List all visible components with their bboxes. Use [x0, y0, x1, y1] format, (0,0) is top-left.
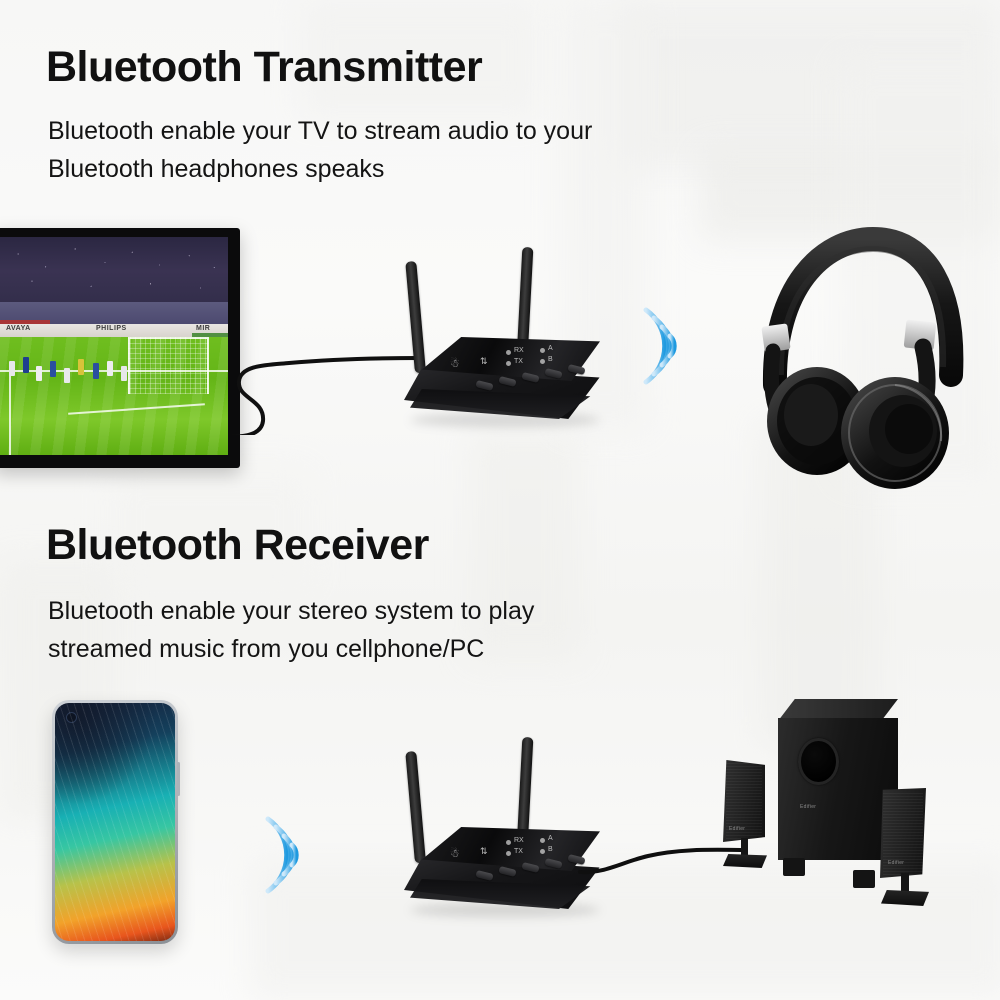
infographic-canvas: Bluetooth Transmitter Bluetooth enable y… — [0, 0, 1000, 1000]
channel-a-label: A — [548, 345, 553, 352]
tv-ad-right: MIR — [196, 325, 210, 332]
tv-player — [9, 361, 15, 376]
wireless-headphones — [745, 225, 995, 495]
transmitter-section-description: Bluetooth enable your TV to stream audio… — [48, 112, 748, 188]
subwoofer-foot — [853, 870, 875, 888]
rx-indicator-label: RX — [514, 347, 524, 354]
channel-a-label: A — [548, 835, 553, 842]
tv-display: AVAYA PHILIPS MIR — [0, 228, 240, 468]
tv-ad-left: AVAYA — [6, 325, 31, 332]
channel-b-label: B — [548, 846, 553, 853]
tv-player — [23, 357, 29, 373]
transmitter-description-line-2: Bluetooth headphones speaks — [48, 150, 748, 188]
tv-player — [107, 361, 113, 376]
status-led — [540, 838, 545, 843]
satellite-brand-label: Edifier — [888, 860, 904, 866]
phone-power-button[interactable] — [177, 762, 180, 796]
subwoofer: Edifier — [778, 718, 898, 860]
bluetooth-small-icon: ⇅ — [480, 356, 488, 367]
device-body: ☃ ⇅ RX TX A B — [404, 827, 612, 913]
transmitter-section-title: Bluetooth Transmitter — [46, 46, 482, 89]
bluetooth-signal-waves-transmitter — [640, 296, 712, 396]
tv-player — [93, 363, 99, 379]
tv-player — [64, 368, 70, 383]
tv-goalkeeper — [78, 359, 84, 375]
left-ear-pad — [784, 384, 838, 446]
satellite-speaker-left: Edifier — [723, 760, 765, 842]
bluetooth-transmitter-device[interactable]: ☃ ⇅ RX TX A B — [400, 245, 615, 425]
subwoofer-brand-label: Edifier — [800, 804, 816, 810]
status-led — [506, 350, 511, 355]
status-led — [506, 840, 511, 845]
bluetooth-receiver-device[interactable]: ☃ ⇅ RX TX A B — [400, 735, 615, 915]
receiver-section-description: Bluetooth enable your stereo system to p… — [48, 592, 708, 668]
smartphone — [52, 700, 178, 944]
tv-player — [121, 366, 127, 381]
status-led — [506, 361, 511, 366]
receiver-description-line-2: streamed music from you cellphone/PC — [48, 630, 708, 668]
channel-b-label: B — [548, 356, 553, 363]
tx-indicator-label: TX — [514, 358, 523, 365]
satellite-base-left — [723, 854, 767, 868]
tv-goal-net — [128, 337, 210, 394]
tv-ad-center: PHILIPS — [96, 325, 127, 332]
satellite-brand-label: Edifier — [729, 826, 745, 832]
bluetooth-icon: ☃ — [450, 847, 460, 860]
status-led — [506, 851, 511, 856]
tv-pitch-line — [9, 370, 11, 455]
stereo-speaker-system: Edifier Edifier Edifier — [705, 690, 975, 940]
subwoofer-bass-port — [798, 738, 839, 785]
status-led — [540, 359, 545, 364]
phone-screen-wallpaper — [55, 703, 175, 941]
status-led — [540, 348, 545, 353]
tx-indicator-label: TX — [514, 848, 523, 855]
front-camera-icon — [66, 712, 77, 723]
transmitter-description-line-1: Bluetooth enable your TV to stream audio… — [48, 112, 748, 150]
receiver-section-title: Bluetooth Receiver — [46, 524, 429, 567]
bluetooth-small-icon: ⇅ — [480, 846, 488, 857]
satellite-base-right — [881, 890, 929, 906]
receiver-description-line-1: Bluetooth enable your stereo system to p… — [48, 592, 708, 630]
device-body: ☃ ⇅ RX TX A B — [404, 337, 612, 423]
bluetooth-signal-waves-receiver — [262, 805, 334, 905]
tv-player — [50, 361, 56, 377]
tv-player — [36, 366, 42, 381]
status-led — [540, 849, 545, 854]
subwoofer-foot — [783, 858, 805, 876]
rx-indicator-label: RX — [514, 837, 524, 844]
bluetooth-icon: ☃ — [450, 357, 460, 370]
tv-pitch-line — [68, 403, 205, 415]
satellite-speaker-right: Edifier — [880, 788, 926, 878]
tv-screen-football-match: AVAYA PHILIPS MIR — [0, 237, 228, 455]
